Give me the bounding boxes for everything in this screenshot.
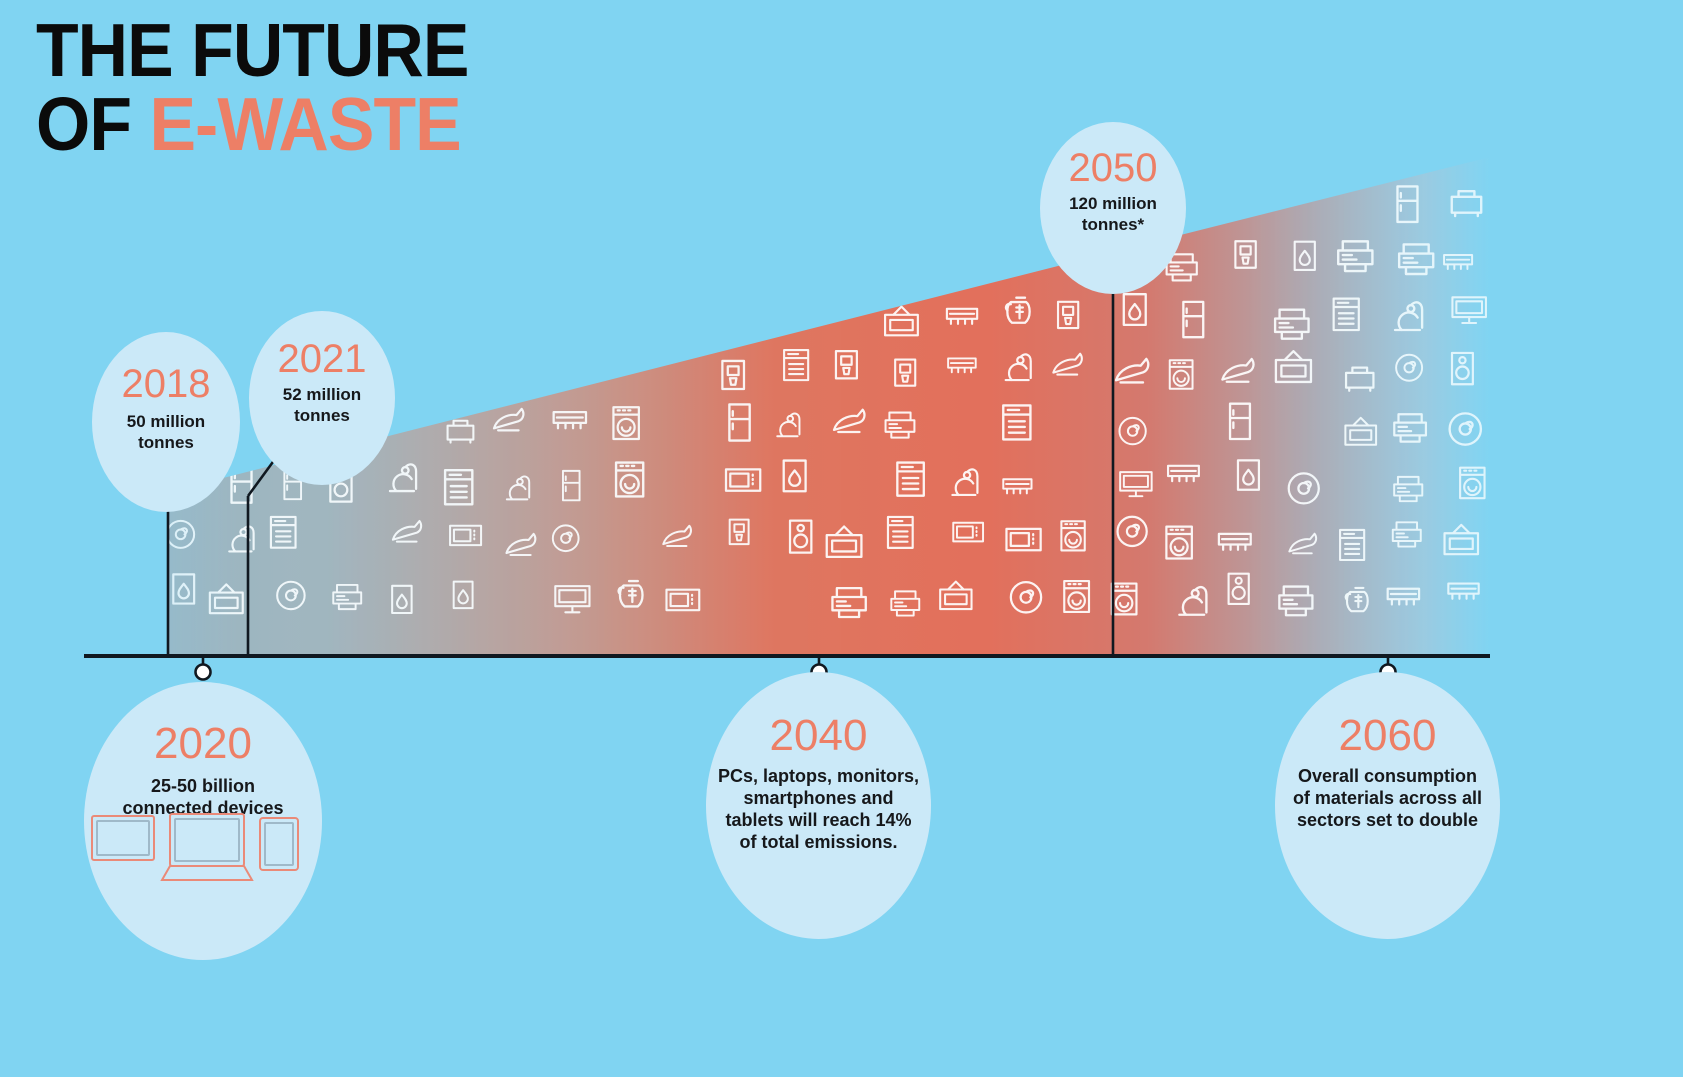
heater-icon bbox=[1124, 294, 1146, 325]
title-line-1: THE FUTURE bbox=[36, 8, 468, 92]
fridge-icon bbox=[1397, 186, 1417, 222]
microwave-icon bbox=[953, 523, 983, 542]
washer-icon bbox=[1166, 527, 1191, 559]
iron-icon bbox=[1116, 359, 1148, 383]
bubble-text-2020-line1: 25-50 billion bbox=[122, 776, 283, 798]
microwave-icon bbox=[450, 526, 481, 545]
iron-icon bbox=[1053, 354, 1081, 375]
bubble-text-2040-line1: PCs, laptops, monitors, bbox=[718, 766, 919, 788]
coffee-icon bbox=[730, 520, 749, 545]
printer-icon bbox=[886, 413, 915, 438]
fan-icon bbox=[167, 521, 194, 548]
aircon-icon bbox=[948, 358, 976, 372]
toaster-icon bbox=[1452, 191, 1481, 216]
bubble-text-2018-line1: 50 million bbox=[127, 412, 205, 433]
aircon-icon bbox=[1219, 534, 1251, 550]
toaster-icon bbox=[448, 421, 474, 443]
bubble-year-2021: 2021 bbox=[278, 339, 367, 379]
vacuum-icon bbox=[507, 476, 529, 499]
dishwasher-icon bbox=[1003, 405, 1030, 439]
dishwasher-icon bbox=[888, 517, 913, 548]
washer-icon bbox=[616, 463, 643, 497]
infographic-canvas: THE FUTUREOF E-WASTE bbox=[0, 0, 1683, 1077]
bubble-year-2060: 2060 bbox=[1339, 714, 1437, 758]
bubble-text-2040-line2: smartphones and bbox=[718, 788, 919, 810]
coffee-icon bbox=[836, 351, 857, 378]
vacuum-icon bbox=[952, 469, 977, 495]
bubble-text-2021-line1: 52 million bbox=[283, 385, 361, 406]
fan-icon bbox=[1450, 413, 1481, 444]
bubble-text-2050-line2: tonnes* bbox=[1069, 215, 1157, 236]
vacuum-icon bbox=[229, 526, 253, 551]
tv-icon bbox=[940, 582, 971, 609]
washer-icon bbox=[613, 407, 638, 439]
title-line-2-plain: OF bbox=[36, 82, 149, 166]
vacuum-icon bbox=[1006, 354, 1031, 380]
aircon-icon bbox=[1168, 466, 1199, 481]
fridge-icon bbox=[232, 467, 252, 503]
bubble-text-2021-line2: tonnes bbox=[283, 406, 361, 427]
tv-icon bbox=[1276, 351, 1311, 382]
vacuum-icon bbox=[1179, 587, 1206, 615]
kettle-icon bbox=[619, 581, 643, 606]
tv-icon bbox=[827, 526, 862, 556]
coffee-icon bbox=[722, 361, 744, 389]
printer-icon bbox=[1338, 241, 1372, 271]
vacuum-icon bbox=[1395, 302, 1422, 330]
bubble-year-2018: 2018 bbox=[122, 364, 211, 404]
connected-devices-icons bbox=[84, 806, 322, 916]
iron-icon bbox=[393, 521, 421, 542]
tv-icon bbox=[1345, 418, 1376, 445]
iron-icon bbox=[663, 526, 691, 546]
printer-icon bbox=[1279, 587, 1312, 616]
fridge-icon bbox=[563, 471, 580, 500]
bubble-text-2050-line1: 120 million bbox=[1069, 194, 1157, 215]
heater-icon bbox=[392, 586, 411, 613]
lower-stem-group bbox=[203, 656, 1388, 666]
heater-icon bbox=[454, 582, 473, 608]
microwave-icon bbox=[1006, 529, 1040, 550]
washer-icon bbox=[1061, 521, 1084, 550]
monitor-icon bbox=[1120, 472, 1152, 496]
printer-icon bbox=[333, 585, 361, 609]
printer-icon bbox=[1399, 244, 1433, 274]
fan-icon bbox=[1119, 418, 1145, 444]
speaker-icon bbox=[790, 521, 811, 553]
dishwasher-icon bbox=[445, 470, 472, 504]
datapoint-bubble-2050[interactable]: 2050 120 million tonnes* bbox=[1040, 122, 1186, 294]
heater-icon bbox=[784, 461, 806, 492]
fridge-icon bbox=[1230, 404, 1250, 439]
fan-icon bbox=[277, 582, 304, 609]
aircon-icon bbox=[1448, 584, 1478, 599]
aircon-icon bbox=[947, 309, 977, 324]
bubble-year-2020: 2020 bbox=[154, 722, 252, 766]
datapoint-bubble-2018[interactable]: 2018 50 million tonnes bbox=[92, 332, 240, 512]
dishwasher-icon bbox=[1334, 299, 1359, 330]
bubble-text-2060: Overall consumption of materials across … bbox=[1293, 766, 1482, 832]
bubble-text-2060-line2: of materials across all bbox=[1293, 788, 1482, 810]
iron-icon bbox=[1289, 534, 1316, 554]
printer-icon bbox=[1394, 414, 1426, 441]
bubble-year-2050: 2050 bbox=[1069, 148, 1158, 188]
laptop-icon bbox=[162, 814, 252, 880]
bubble-text-2060-line3: sectors set to double bbox=[1293, 810, 1482, 832]
monitor-icon bbox=[92, 816, 154, 860]
tv-icon bbox=[885, 307, 918, 336]
coffee-icon bbox=[1058, 302, 1078, 328]
fan-icon bbox=[553, 525, 579, 551]
datapoint-bubble-2040[interactable]: 2040 PCs, laptops, monitors, smartphones… bbox=[706, 672, 931, 939]
iron-icon bbox=[1222, 359, 1253, 382]
monitor-icon bbox=[555, 586, 589, 612]
aircon-icon bbox=[1388, 589, 1419, 605]
bubble-text-2018-line2: tonnes bbox=[127, 433, 205, 454]
bubble-text-2018: 50 million tonnes bbox=[127, 412, 205, 453]
dishwasher-icon bbox=[784, 350, 808, 380]
fridge-icon bbox=[729, 404, 749, 440]
heater-icon bbox=[173, 574, 194, 603]
iron-icon bbox=[494, 409, 523, 431]
bubble-text-2021: 52 million tonnes bbox=[283, 385, 361, 426]
iron-icon bbox=[506, 534, 535, 555]
speaker-icon bbox=[1452, 353, 1473, 384]
kettle-icon bbox=[1346, 588, 1368, 611]
dishwasher-icon bbox=[1340, 530, 1364, 560]
fan-icon bbox=[1396, 355, 1422, 381]
bubble-text-2040: PCs, laptops, monitors, smartphones and … bbox=[718, 766, 919, 854]
printer-icon bbox=[891, 591, 919, 615]
aircon-icon bbox=[1003, 479, 1031, 493]
printer-icon bbox=[1393, 522, 1421, 546]
heater-icon bbox=[1238, 460, 1259, 489]
tv-icon bbox=[210, 584, 243, 613]
bubble-text-2040-line4: of total emissions. bbox=[718, 832, 919, 854]
bubble-text-2060-line1: Overall consumption bbox=[1293, 766, 1482, 788]
printer-icon bbox=[1275, 310, 1308, 339]
heater-icon bbox=[1295, 242, 1315, 270]
bubble-text-2040-line3: tablets will reach 14% bbox=[718, 810, 919, 832]
datapoint-bubble-2060[interactable]: 2060 Overall consumption of materials ac… bbox=[1275, 672, 1500, 939]
bubble-text-2050: 120 million tonnes* bbox=[1069, 194, 1157, 235]
iron-icon bbox=[834, 410, 864, 432]
washer-icon bbox=[1170, 360, 1193, 388]
kettle-icon bbox=[1006, 298, 1030, 323]
marker-knob-2020 bbox=[196, 665, 211, 680]
datapoint-bubble-2021[interactable]: 2021 52 million tonnes bbox=[249, 311, 395, 485]
printer-icon bbox=[1394, 477, 1422, 501]
coffee-icon bbox=[1235, 241, 1255, 267]
tv-icon bbox=[1445, 525, 1478, 554]
washer-icon bbox=[1460, 468, 1484, 499]
tablet-icon bbox=[260, 818, 298, 870]
bubble-year-2040: 2040 bbox=[770, 714, 868, 758]
fridge-icon bbox=[1183, 302, 1203, 337]
toaster-icon bbox=[1346, 368, 1373, 391]
fan-icon bbox=[1118, 517, 1147, 546]
washer-icon bbox=[1064, 581, 1089, 612]
page-title: THE FUTUREOF E-WASTE bbox=[36, 14, 468, 161]
title-line-2-highlight: E-WASTE bbox=[149, 82, 460, 166]
aircon-icon bbox=[1444, 255, 1472, 269]
dishwasher-icon bbox=[897, 463, 923, 496]
vacuum-icon bbox=[777, 414, 799, 437]
speaker-icon bbox=[1229, 574, 1249, 604]
monitor-icon bbox=[1452, 297, 1486, 323]
vacuum-icon bbox=[390, 464, 416, 491]
printer-icon bbox=[832, 588, 865, 617]
microwave-icon bbox=[726, 469, 760, 490]
fan-icon bbox=[1011, 582, 1041, 612]
fan-icon bbox=[1289, 473, 1319, 503]
washer-icon bbox=[1112, 584, 1137, 615]
coffee-icon bbox=[895, 360, 915, 386]
dishwasher-icon bbox=[271, 517, 296, 548]
microwave-icon bbox=[666, 590, 699, 610]
aircon-icon bbox=[554, 412, 586, 428]
